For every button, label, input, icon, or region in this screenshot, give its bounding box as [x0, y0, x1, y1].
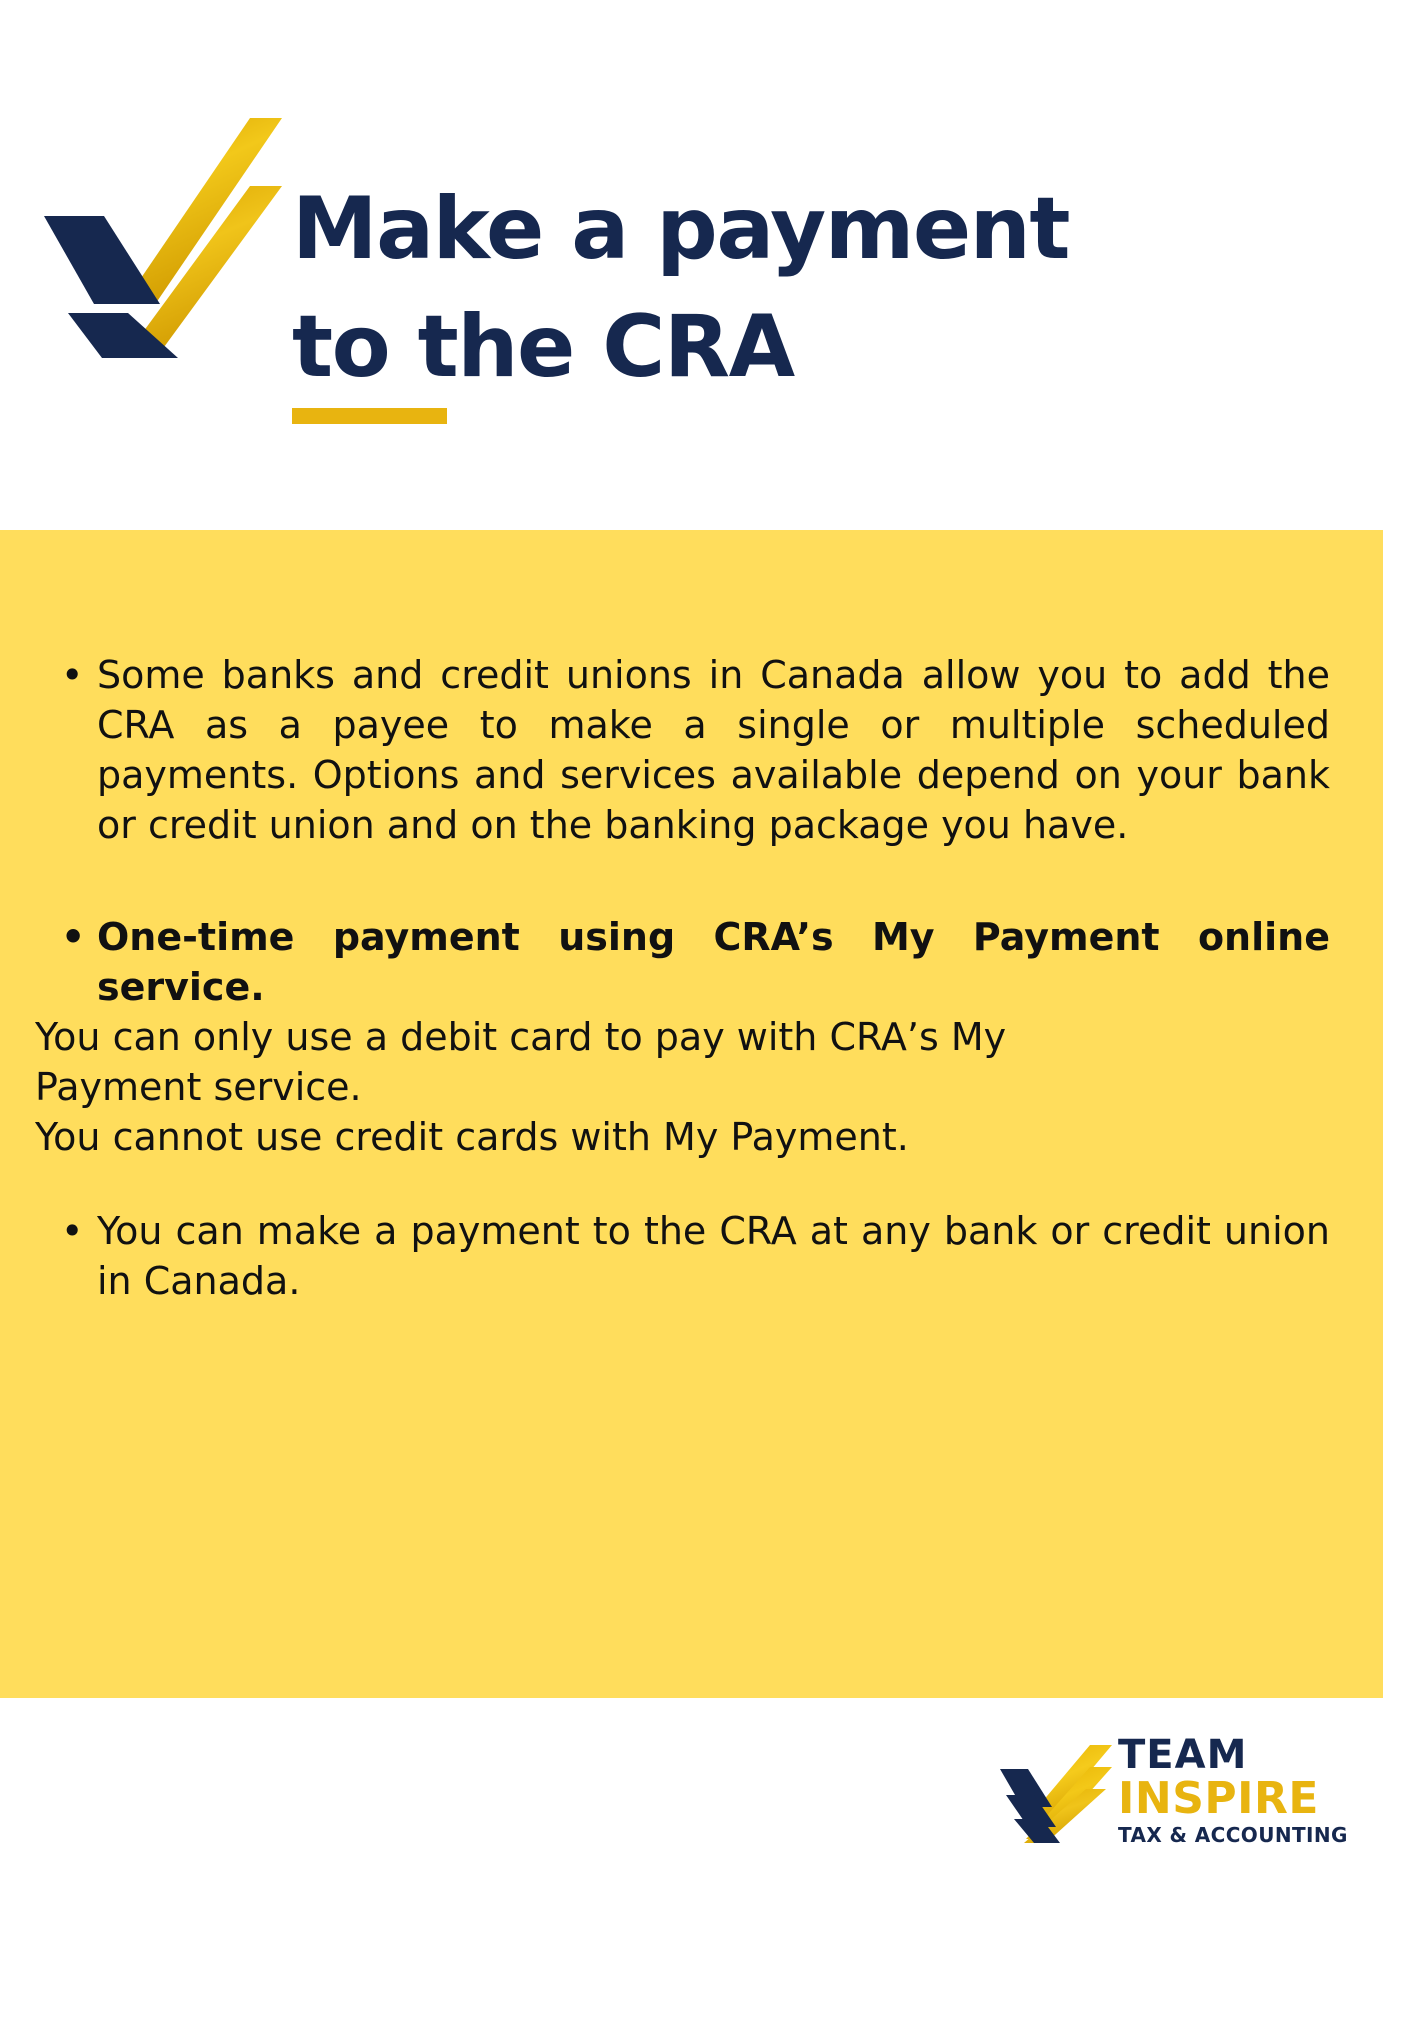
page-title-line-1: Make a payment: [292, 170, 1372, 288]
list-item: You can make a payment to the CRA at any…: [97, 1206, 1348, 1306]
plain-line: Payment service.: [35, 1062, 1348, 1112]
bullet-list-primary: Some banks and credit unions in Canada a…: [35, 650, 1348, 850]
list-item: Some banks and credit unions in Canada a…: [97, 650, 1348, 850]
spacer: [35, 1162, 1348, 1206]
content-panel-body: Some banks and credit unions in Canada a…: [35, 650, 1348, 1306]
plain-line: You cannot use credit cards with My Paym…: [35, 1112, 1348, 1162]
bullet-list-tertiary: You can make a payment to the CRA at any…: [35, 1206, 1348, 1306]
header-section: Make a payment to the CRA: [0, 0, 1428, 530]
spacer: [35, 850, 1348, 912]
brand-logo: TEAM INSPIRE TAX & ACCOUNTING: [1000, 1735, 1350, 1855]
bullet-list-secondary: One-time payment using CRA’s My Payment …: [35, 912, 1348, 1012]
brand-tagline-text: TAX & ACCOUNTING: [1118, 1824, 1350, 1846]
brand-inspire-text: INSPIRE: [1118, 1777, 1350, 1821]
page-title: Make a payment to the CRA: [292, 170, 1372, 406]
double-check-chevron-icon: [38, 108, 288, 358]
triple-check-chevron-icon: [1000, 1743, 1120, 1843]
brand-team-text: TEAM: [1118, 1735, 1350, 1775]
list-item: One-time payment using CRA’s My Payment …: [97, 912, 1348, 1012]
content-panel: Some banks and credit unions in Canada a…: [0, 530, 1383, 1698]
brand-wordmark: TEAM INSPIRE TAX & ACCOUNTING: [1118, 1735, 1350, 1846]
page-title-line-2: to the CRA: [292, 288, 1372, 406]
title-underline-accent: [292, 408, 447, 424]
plain-line: You can only use a debit card to pay wit…: [35, 1012, 1348, 1062]
